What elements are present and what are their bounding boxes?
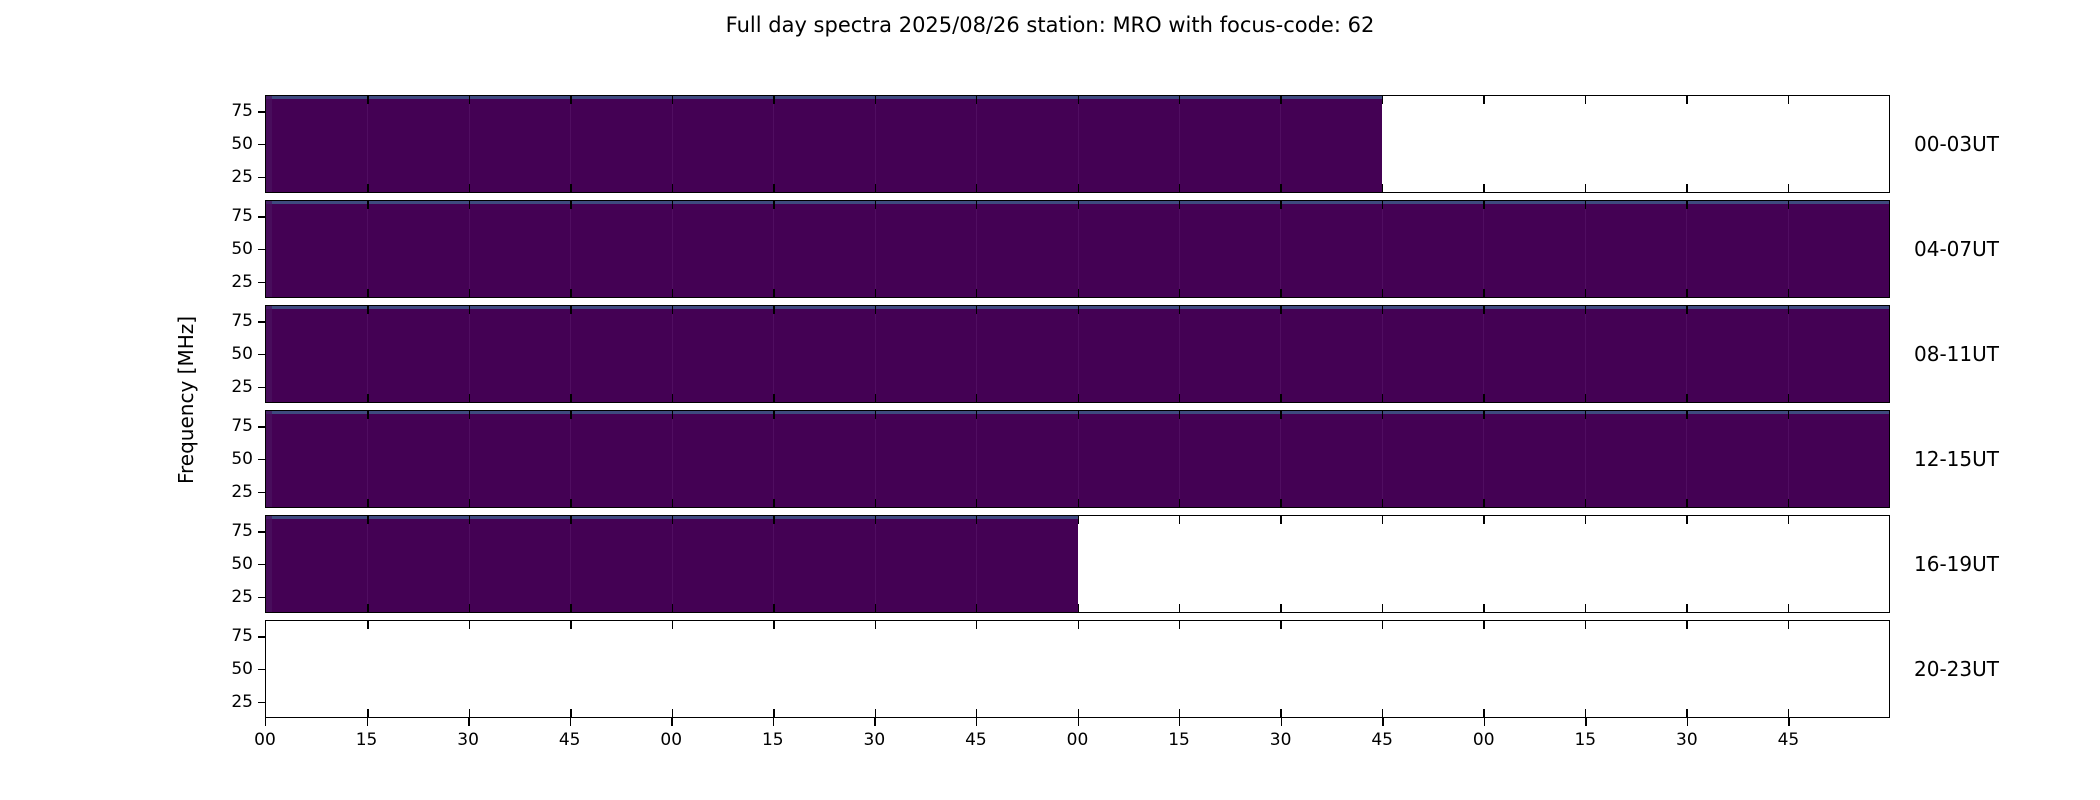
x-tick-mark	[1483, 499, 1484, 507]
x-tick-mark	[1280, 499, 1281, 507]
x-tick-label: 00	[1473, 730, 1495, 750]
x-tick-mark	[875, 96, 876, 104]
x-tick-mark	[1179, 411, 1180, 419]
y-tick-label: 75	[231, 311, 253, 331]
block-seam	[1078, 96, 1079, 192]
x-tick-mark	[1382, 306, 1383, 314]
x-tick-mark	[570, 394, 571, 402]
block-seam	[469, 411, 470, 507]
x-tick-label: 30	[864, 730, 886, 750]
x-tick-mark	[773, 411, 774, 419]
x-tick-mark	[367, 516, 368, 524]
block-seam	[672, 306, 673, 402]
x-tick-mark	[773, 394, 774, 402]
x-tick-mark	[875, 289, 876, 297]
y-tick-mark	[258, 636, 265, 637]
x-tick-mark	[469, 499, 470, 507]
x-tick-label: 15	[1574, 730, 1596, 750]
x-tick-mark	[1078, 201, 1079, 209]
x-tick-mark	[1483, 604, 1484, 612]
x-tick-mark	[469, 394, 470, 402]
x-tick-mark	[469, 411, 470, 419]
x-tick-mark	[1382, 604, 1383, 612]
x-tick-mark	[672, 709, 673, 717]
block-seams	[266, 516, 1078, 612]
x-tick-mark	[1078, 621, 1079, 629]
x-tick-mark	[976, 201, 977, 209]
block-seam	[773, 201, 774, 297]
x-tick-mark	[1788, 306, 1789, 314]
x-tick-mark	[773, 306, 774, 314]
x-tick-mark	[1382, 411, 1383, 419]
block-seams	[266, 96, 1382, 192]
block-seam	[1382, 201, 1383, 297]
block-seam	[1280, 411, 1281, 507]
block-seam	[1686, 411, 1687, 507]
y-tick-mark	[258, 564, 265, 565]
x-tick-mark	[1585, 96, 1586, 104]
x-tick-mark	[469, 516, 470, 524]
x-tick-mark	[773, 184, 774, 192]
spectra-panel	[265, 620, 1890, 718]
x-tick-mark	[1686, 621, 1687, 629]
x-tick-mark	[367, 184, 368, 192]
x-tick-mark	[1280, 184, 1281, 192]
y-tick-mark	[258, 354, 265, 355]
x-tick-mark	[1280, 604, 1281, 612]
x-tick-mark	[1382, 96, 1383, 104]
x-tick-mark	[875, 394, 876, 402]
x-tick-mark	[672, 604, 673, 612]
x-tick-mark	[875, 499, 876, 507]
block-seam	[1686, 201, 1687, 297]
x-tick-mark	[672, 184, 673, 192]
x-tick-mark	[367, 709, 368, 717]
block-seam	[773, 411, 774, 507]
x-tick-mark	[1179, 499, 1180, 507]
x-tick-mark	[1078, 184, 1079, 192]
x-tick-mark	[1585, 411, 1586, 419]
x-tick-mark	[1078, 289, 1079, 297]
data-region	[266, 96, 1382, 192]
y-tick-label: 25	[231, 587, 253, 607]
x-tick-mark	[672, 499, 673, 507]
x-tick-mark	[1280, 201, 1281, 209]
x-tick-mark	[1179, 394, 1180, 402]
block-seam	[570, 411, 571, 507]
y-tick-label: 50	[231, 239, 253, 259]
y-tick-label: 50	[231, 554, 253, 574]
x-tick-mark	[1382, 184, 1383, 192]
x-tick-mark	[1179, 184, 1180, 192]
x-tick-mark	[1078, 411, 1079, 419]
y-tick-label: 25	[231, 377, 253, 397]
x-tick-mark	[1483, 709, 1484, 717]
x-tick-mark	[1686, 411, 1687, 419]
spectra-panel	[265, 200, 1890, 298]
data-left-band	[266, 516, 272, 612]
x-axis-tick-mark	[773, 718, 774, 726]
x-tick-mark	[672, 96, 673, 104]
x-tick-mark	[1382, 289, 1383, 297]
x-tick-mark	[367, 411, 368, 419]
block-seam	[1078, 201, 1079, 297]
x-axis-tick-mark	[1281, 718, 1282, 726]
block-seam	[570, 96, 571, 192]
block-seam	[1788, 306, 1789, 402]
x-tick-mark	[1585, 499, 1586, 507]
x-axis-tick-mark	[1078, 718, 1079, 726]
block-seam	[1382, 411, 1383, 507]
data-region	[266, 306, 1889, 402]
x-tick-mark	[367, 306, 368, 314]
x-tick-mark	[1483, 289, 1484, 297]
x-tick-mark	[1179, 96, 1180, 104]
block-seam	[367, 411, 368, 507]
x-tick-mark	[672, 201, 673, 209]
x-tick-mark	[976, 394, 977, 402]
x-tick-mark	[1382, 709, 1383, 717]
y-tick-mark	[258, 144, 265, 145]
x-tick-mark	[1585, 289, 1586, 297]
figure-title: Full day spectra 2025/08/26 station: MRO…	[0, 13, 2100, 37]
x-tick-mark	[1788, 394, 1789, 402]
x-tick-mark	[875, 604, 876, 612]
x-tick-mark	[570, 411, 571, 419]
x-tick-mark	[1483, 306, 1484, 314]
x-tick-mark	[1788, 709, 1789, 717]
data-top-band	[266, 96, 1382, 99]
x-tick-mark	[1585, 201, 1586, 209]
x-tick-label: 00	[254, 730, 276, 750]
y-tick-label: 75	[231, 101, 253, 121]
y-tick-mark	[258, 177, 265, 178]
x-tick-mark	[976, 604, 977, 612]
x-tick-mark	[1585, 306, 1586, 314]
x-tick-mark	[976, 516, 977, 524]
block-seam	[1078, 306, 1079, 402]
block-seam	[875, 201, 876, 297]
x-tick-mark	[1280, 411, 1281, 419]
y-tick-mark	[258, 669, 265, 670]
x-tick-mark	[773, 621, 774, 629]
x-tick-mark	[976, 499, 977, 507]
block-seam	[1483, 201, 1484, 297]
x-axis-tick-mark	[1484, 718, 1485, 726]
row-label-00-03ut: 00-03UT	[1914, 132, 1999, 156]
x-tick-mark	[1382, 394, 1383, 402]
y-tick-label: 25	[231, 692, 253, 712]
x-tick-mark	[1179, 604, 1180, 612]
x-axis-tick-mark	[265, 718, 266, 726]
x-tick-mark	[773, 201, 774, 209]
x-tick-mark	[1179, 621, 1180, 629]
x-tick-mark	[773, 499, 774, 507]
block-seam	[672, 96, 673, 192]
block-seam	[875, 516, 876, 612]
x-tick-mark	[570, 621, 571, 629]
x-tick-mark	[570, 96, 571, 104]
x-tick-mark	[1078, 516, 1079, 524]
x-tick-mark	[570, 184, 571, 192]
row-label-12-15ut: 12-15UT	[1914, 447, 1999, 471]
x-tick-mark	[1788, 201, 1789, 209]
block-seam	[570, 516, 571, 612]
block-seam	[976, 96, 977, 192]
x-tick-mark	[469, 201, 470, 209]
x-tick-label: 15	[356, 730, 378, 750]
x-tick-label: 15	[762, 730, 784, 750]
block-seam	[976, 201, 977, 297]
block-seam	[773, 306, 774, 402]
x-tick-mark	[1788, 516, 1789, 524]
x-tick-label: 45	[1778, 730, 1800, 750]
y-tick-mark	[258, 702, 265, 703]
y-tick-mark	[258, 111, 265, 112]
x-tick-mark	[1788, 499, 1789, 507]
x-tick-mark	[1078, 306, 1079, 314]
block-seam	[367, 516, 368, 612]
x-tick-mark	[1686, 516, 1687, 524]
block-seam	[672, 516, 673, 612]
block-seam	[773, 516, 774, 612]
x-tick-mark	[773, 709, 774, 717]
spectra-figure: Full day spectra 2025/08/26 station: MRO…	[0, 0, 2100, 800]
x-tick-mark	[1483, 96, 1484, 104]
y-tick-label: 25	[231, 272, 253, 292]
x-tick-mark	[1483, 394, 1484, 402]
x-tick-mark	[367, 394, 368, 402]
x-tick-mark	[1686, 306, 1687, 314]
block-seams	[266, 306, 1889, 402]
data-left-band	[266, 411, 272, 507]
block-seams	[266, 201, 1889, 297]
x-tick-mark	[1686, 499, 1687, 507]
x-tick-label: 30	[1676, 730, 1698, 750]
x-tick-mark	[1788, 604, 1789, 612]
data-region	[266, 411, 1889, 507]
x-tick-mark	[1483, 201, 1484, 209]
x-tick-mark	[469, 184, 470, 192]
block-seam	[469, 306, 470, 402]
x-tick-mark	[1179, 201, 1180, 209]
x-tick-mark	[1788, 621, 1789, 629]
x-tick-mark	[1078, 604, 1079, 612]
block-seam	[1585, 201, 1586, 297]
x-tick-mark	[570, 306, 571, 314]
y-tick-mark	[258, 387, 265, 388]
x-tick-label: 30	[1270, 730, 1292, 750]
y-tick-label: 75	[231, 206, 253, 226]
x-tick-mark	[1585, 394, 1586, 402]
x-axis-tick-mark	[1687, 718, 1688, 726]
x-tick-mark	[672, 621, 673, 629]
data-left-band	[266, 201, 272, 297]
block-seam	[1382, 306, 1383, 402]
x-tick-mark	[773, 604, 774, 612]
x-tick-mark	[875, 201, 876, 209]
x-tick-mark	[875, 621, 876, 629]
block-seam	[570, 306, 571, 402]
y-tick-mark	[258, 426, 265, 427]
x-tick-mark	[976, 621, 977, 629]
x-tick-mark	[1179, 709, 1180, 717]
y-tick-mark	[258, 597, 265, 598]
block-seam	[1788, 201, 1789, 297]
block-seam	[875, 306, 876, 402]
data-left-band	[266, 96, 272, 192]
y-tick-label: 75	[231, 521, 253, 541]
x-tick-mark	[1585, 184, 1586, 192]
data-region	[266, 201, 1889, 297]
x-tick-mark	[570, 516, 571, 524]
x-tick-mark	[875, 709, 876, 717]
y-tick-mark	[258, 282, 265, 283]
y-tick-label: 75	[231, 626, 253, 646]
x-tick-mark	[672, 411, 673, 419]
block-seam	[1179, 411, 1180, 507]
row-label-08-11ut: 08-11UT	[1914, 342, 1999, 366]
x-tick-mark	[1686, 184, 1687, 192]
x-tick-mark	[1483, 184, 1484, 192]
block-seam	[367, 96, 368, 192]
y-tick-label: 25	[231, 167, 253, 187]
row-label-04-07ut: 04-07UT	[1914, 237, 1999, 261]
x-tick-mark	[672, 289, 673, 297]
x-tick-mark	[1280, 96, 1281, 104]
x-tick-mark	[1788, 411, 1789, 419]
x-tick-mark	[1382, 201, 1383, 209]
y-tick-label: 75	[231, 416, 253, 436]
x-tick-mark	[1585, 621, 1586, 629]
x-tick-mark	[367, 289, 368, 297]
x-tick-mark	[570, 499, 571, 507]
x-tick-mark	[1585, 709, 1586, 717]
x-tick-mark	[875, 516, 876, 524]
x-tick-mark	[1585, 604, 1586, 612]
x-tick-mark	[570, 709, 571, 717]
block-seam	[469, 201, 470, 297]
block-seam	[1280, 306, 1281, 402]
block-seam	[469, 516, 470, 612]
x-tick-mark	[469, 621, 470, 629]
x-axis-tick-mark	[1788, 718, 1789, 726]
x-tick-mark	[1078, 394, 1079, 402]
x-tick-mark	[1483, 621, 1484, 629]
x-tick-mark	[1686, 709, 1687, 717]
x-tick-mark	[1686, 289, 1687, 297]
x-tick-mark	[976, 184, 977, 192]
x-tick-mark	[1686, 201, 1687, 209]
x-tick-mark	[1179, 306, 1180, 314]
y-tick-label: 25	[231, 482, 253, 502]
x-tick-label: 00	[660, 730, 682, 750]
block-seam	[1179, 201, 1180, 297]
x-tick-mark	[1788, 96, 1789, 104]
x-axis-tick-mark	[570, 718, 571, 726]
x-tick-mark	[469, 96, 470, 104]
y-tick-mark	[258, 492, 265, 493]
y-tick-label: 50	[231, 134, 253, 154]
x-tick-mark	[773, 516, 774, 524]
block-seam	[1078, 411, 1079, 507]
spectra-panel	[265, 305, 1890, 403]
x-tick-mark	[1483, 411, 1484, 419]
x-tick-mark	[1179, 289, 1180, 297]
x-tick-mark	[1788, 289, 1789, 297]
block-seam	[469, 96, 470, 192]
x-tick-mark	[672, 394, 673, 402]
row-label-20-23ut: 20-23UT	[1914, 657, 1999, 681]
block-seam	[1585, 411, 1586, 507]
block-seam	[672, 411, 673, 507]
x-tick-mark	[367, 621, 368, 629]
y-axis-label: Frequency [MHz]	[174, 316, 198, 484]
x-tick-mark	[1788, 184, 1789, 192]
x-tick-mark	[1382, 516, 1383, 524]
x-tick-mark	[1686, 96, 1687, 104]
x-tick-mark	[1382, 621, 1383, 629]
block-seam	[976, 411, 977, 507]
block-seam	[773, 96, 774, 192]
x-tick-mark	[1280, 306, 1281, 314]
x-tick-mark	[469, 289, 470, 297]
x-axis-tick-mark	[1382, 718, 1383, 726]
x-tick-mark	[1280, 516, 1281, 524]
y-tick-mark	[258, 459, 265, 460]
x-tick-mark	[1280, 394, 1281, 402]
block-seam	[1179, 306, 1180, 402]
block-seam	[570, 201, 571, 297]
x-axis-tick-mark	[976, 718, 977, 726]
x-axis-tick-mark	[468, 718, 469, 726]
block-seam	[875, 411, 876, 507]
x-tick-label: 00	[1067, 730, 1089, 750]
x-axis-tick-mark	[671, 718, 672, 726]
block-seams	[266, 411, 1889, 507]
block-seam	[976, 516, 977, 612]
x-tick-mark	[1382, 499, 1383, 507]
x-tick-mark	[1179, 516, 1180, 524]
x-tick-mark	[367, 201, 368, 209]
x-tick-mark	[1078, 499, 1079, 507]
x-tick-mark	[773, 96, 774, 104]
x-tick-label: 15	[1168, 730, 1190, 750]
x-axis-tick-mark	[367, 718, 368, 726]
x-tick-label: 30	[457, 730, 479, 750]
spectra-panel	[265, 515, 1890, 613]
x-axis-tick-mark	[1179, 718, 1180, 726]
x-tick-mark	[875, 411, 876, 419]
block-seam	[1280, 96, 1281, 192]
x-tick-mark	[1078, 96, 1079, 104]
block-seam	[672, 201, 673, 297]
x-tick-mark	[875, 306, 876, 314]
block-seam	[1483, 306, 1484, 402]
block-seam	[875, 96, 876, 192]
x-tick-mark	[469, 306, 470, 314]
x-tick-mark	[976, 96, 977, 104]
x-axis-tick-mark	[874, 718, 875, 726]
x-tick-mark	[469, 604, 470, 612]
block-seam	[367, 201, 368, 297]
row-label-16-19ut: 16-19UT	[1914, 552, 1999, 576]
data-region	[266, 516, 1078, 612]
x-tick-mark	[1483, 516, 1484, 524]
x-tick-label: 45	[965, 730, 987, 750]
block-seam	[367, 306, 368, 402]
x-tick-mark	[367, 96, 368, 104]
